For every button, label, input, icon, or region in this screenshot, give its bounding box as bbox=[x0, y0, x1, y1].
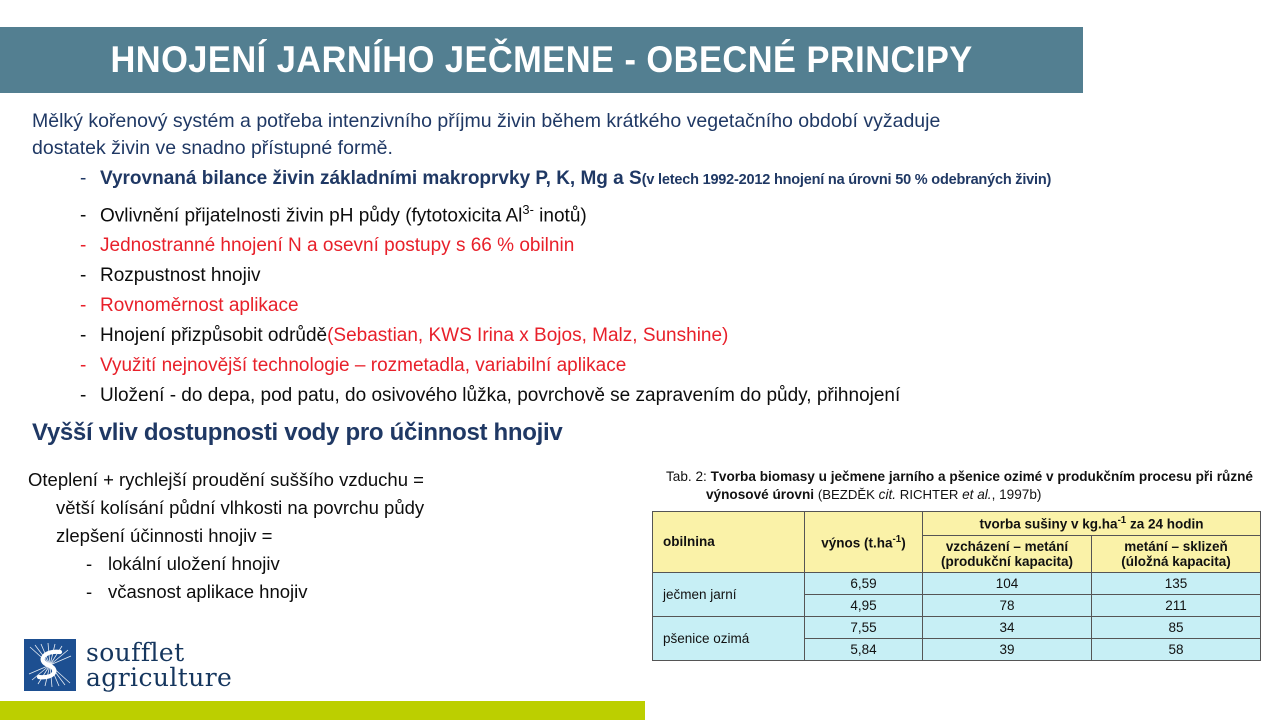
table-caption-line2: výnosové úrovni (BEZDĚK cit. RICHTER et … bbox=[666, 486, 1266, 504]
water-availability-notes: Oteplení + rychlejší proudění suššího vz… bbox=[28, 466, 628, 606]
intro-line-1: Mělký kořenový systém a potřeba intenziv… bbox=[32, 110, 940, 132]
table-caption-source-etal: et al. bbox=[962, 487, 991, 502]
bullet-superscript: 3- bbox=[522, 202, 533, 217]
intro-paragraph: Mělký kořenový systém a potřeba intenziv… bbox=[32, 108, 1212, 162]
bullet-dash: - bbox=[80, 164, 100, 194]
biomass-table: obilnina výnos (t.ha-1) tvorba sušiny v … bbox=[652, 511, 1261, 661]
soufflet-emblem-icon bbox=[24, 639, 76, 691]
table-header-storage-l1: metání – sklizeň bbox=[1124, 539, 1228, 554]
section-subheading: Vyšší vliv dostupnosti vody pro účinnost… bbox=[32, 419, 1257, 447]
note-sub-item: - včasnost aplikace hnojiv bbox=[28, 578, 628, 606]
list-item: - Uložení - do depa, pod patu, do osivov… bbox=[80, 381, 1257, 411]
bullet-dash: - bbox=[80, 201, 100, 231]
table-cell-storage: 135 bbox=[1092, 572, 1261, 594]
table-cell-production: 34 bbox=[923, 616, 1092, 638]
table-header-group: tvorba sušiny v kg.ha-1 za 24 hodin bbox=[923, 512, 1261, 536]
list-item: - Vyrovnaná bilance živin základními mak… bbox=[80, 164, 1257, 195]
table-caption-title: Tvorba biomasy u ječmene jarního a pšeni… bbox=[711, 469, 1253, 484]
table-header-production-l1: vzcházení – metání bbox=[946, 539, 1068, 554]
note-sub-text: včasnost aplikace hnojiv bbox=[108, 578, 308, 606]
table-cell-storage: 211 bbox=[1092, 594, 1261, 616]
list-item: - Rovnoměrnost aplikace bbox=[80, 291, 1257, 321]
bullet-text: Vyrovnaná bilance živin základními makro… bbox=[100, 164, 642, 194]
table-header-group-sup: -1 bbox=[1118, 515, 1127, 526]
table-caption-source-b: RICHTER bbox=[900, 487, 962, 502]
biomass-table-figure: Tab. 2: Tvorba biomasy u ječmene jarního… bbox=[652, 468, 1266, 661]
table-header-group-post: za 24 hodin bbox=[1126, 517, 1203, 532]
slide-title-banner: HNOJENÍ JARNÍHO JEČMENE - OBECNÉ PRINCIP… bbox=[0, 27, 1083, 93]
note-line-3: zlepšení účinnosti hnojiv = bbox=[28, 522, 628, 550]
table-header-production-l2: (produkční kapacita) bbox=[941, 554, 1073, 569]
list-item: - Rozpustnost hnojiv bbox=[80, 261, 1257, 291]
table-cell-crop: pšenice ozimá bbox=[653, 616, 805, 660]
list-item: - Ovlivnění přijatelnosti živin pH půdy … bbox=[80, 195, 1257, 231]
bullet-dash: - bbox=[80, 321, 100, 351]
bullet-text: Využití nejnovější technologie – rozmeta… bbox=[100, 351, 626, 381]
table-header-yield-pre: výnos (t.ha bbox=[821, 535, 892, 550]
bullet-text: Ovlivnění přijatelnosti živin pH půdy (f… bbox=[100, 195, 587, 231]
table-header-obilnina: obilnina bbox=[653, 512, 805, 573]
bullet-note: (v letech 1992-2012 hnojení na úrovni 50… bbox=[642, 165, 1051, 195]
table-caption: Tab. 2: Tvorba biomasy u ječmene jarního… bbox=[652, 468, 1266, 504]
bullet-text: Hnojení přizpůsobit odrůdě bbox=[100, 321, 327, 351]
table-header-yield-sup: -1 bbox=[893, 534, 902, 545]
list-item: - Jednostranné hnojení N a osevní postup… bbox=[80, 231, 1257, 261]
table-cell-production: 104 bbox=[923, 572, 1092, 594]
table-header-storage: metání – sklizeň(úložná kapacita) bbox=[1092, 535, 1261, 572]
list-item: - Hnojení přizpůsobit odrůdě (Sebastian,… bbox=[80, 321, 1257, 351]
page-title: HNOJENÍ JARNÍHO JEČMENE - OBECNÉ PRINCIP… bbox=[110, 39, 972, 81]
table-header-yield: výnos (t.ha-1) bbox=[805, 512, 923, 573]
bullet-dash: - bbox=[80, 381, 100, 411]
bullet-text: Rozpustnost hnojiv bbox=[100, 261, 261, 291]
list-item: - Využití nejnovější technologie – rozme… bbox=[80, 351, 1257, 381]
table-row: ječmen jarní 6,59 104 135 bbox=[653, 572, 1261, 594]
table-row: pšenice ozimá 7,55 34 85 bbox=[653, 616, 1261, 638]
table-cell-storage: 58 bbox=[1092, 638, 1261, 660]
bullet-list: - Vyrovnaná bilance živin základními mak… bbox=[32, 164, 1257, 411]
soufflet-logo: soufflet agriculture bbox=[24, 639, 232, 691]
logo-line-2: agriculture bbox=[86, 665, 232, 690]
bullet-dash: - bbox=[86, 550, 108, 578]
table-caption-source-a: (BEZDĚK bbox=[818, 487, 879, 502]
note-line-2: větší kolísání půdní vlhkosti na povrchu… bbox=[28, 494, 628, 522]
bullet-dash: - bbox=[80, 291, 100, 321]
note-line-1: Oteplení + rychlejší proudění suššího vz… bbox=[28, 466, 628, 494]
table-header-row: obilnina výnos (t.ha-1) tvorba sušiny v … bbox=[653, 512, 1261, 536]
table-cell-crop: ječmen jarní bbox=[653, 572, 805, 616]
bullet-text-tail: inotů) bbox=[534, 205, 587, 226]
bullet-dash: - bbox=[80, 351, 100, 381]
table-cell-storage: 85 bbox=[1092, 616, 1261, 638]
note-sub-text: lokální uložení hnojiv bbox=[108, 550, 280, 578]
table-cell-yield: 5,84 bbox=[805, 638, 923, 660]
footer-green-bar bbox=[0, 701, 645, 720]
table-cell-yield: 4,95 bbox=[805, 594, 923, 616]
bullet-dash: - bbox=[86, 578, 108, 606]
soufflet-wordmark: soufflet agriculture bbox=[86, 640, 232, 690]
note-sub-item: - lokální uložení hnojiv bbox=[28, 550, 628, 578]
table-header-storage-l2: (úložná kapacita) bbox=[1121, 554, 1231, 569]
table-cell-yield: 7,55 bbox=[805, 616, 923, 638]
table-header-group-pre: tvorba sušiny v kg.ha bbox=[980, 517, 1118, 532]
bullet-text: Rovnoměrnost aplikace bbox=[100, 291, 299, 321]
table-header-production: vzcházení – metání(produkční kapacita) bbox=[923, 535, 1092, 572]
bullet-text-main: Ovlivnění přijatelnosti živin pH půdy (f… bbox=[100, 205, 522, 226]
intro-line-2: dostatek živin ve snadno přístupné formě… bbox=[32, 137, 393, 159]
table-caption-label: Tab. 2: bbox=[666, 469, 711, 484]
table-caption-source-cit: cit. bbox=[879, 487, 900, 502]
bullet-text: Uložení - do depa, pod patu, do osivovéh… bbox=[100, 381, 900, 411]
slide-body: Mělký kořenový systém a potřeba intenziv… bbox=[32, 108, 1257, 447]
bullet-dash: - bbox=[80, 231, 100, 261]
bullet-text: Jednostranné hnojení N a osevní postupy … bbox=[100, 231, 574, 261]
table-cell-production: 39 bbox=[923, 638, 1092, 660]
table-cell-production: 78 bbox=[923, 594, 1092, 616]
table-header-yield-post: ) bbox=[901, 535, 906, 550]
bullet-dash: - bbox=[80, 261, 100, 291]
table-cell-yield: 6,59 bbox=[805, 572, 923, 594]
table-caption-source-year: , 1997b) bbox=[992, 487, 1042, 502]
table-caption-title2: výnosové úrovni bbox=[706, 487, 814, 502]
bullet-note-red: (Sebastian, KWS Irina x Bojos, Malz, Sun… bbox=[327, 321, 728, 351]
